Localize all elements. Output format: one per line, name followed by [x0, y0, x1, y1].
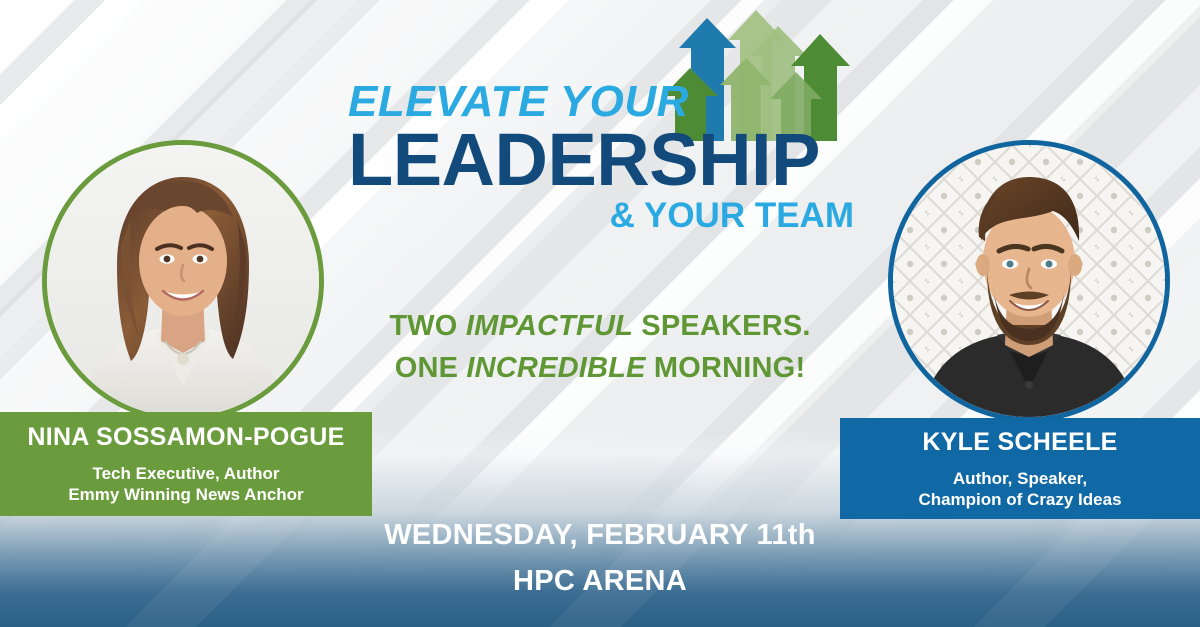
speaker-role-kyle: Author, Speaker, Champion of Crazy Ideas	[840, 468, 1200, 511]
event-venue: HPC ARENA	[0, 566, 1200, 598]
kyle-portrait-svg	[893, 145, 1165, 417]
tagline-2-suffix: MORNING!	[646, 352, 806, 384]
speaker-photo-nina-image	[47, 145, 319, 417]
speaker-name-kyle: KYLE SCHEELE	[840, 429, 1200, 457]
tagline-1-emphasis: IMPACTFUL	[466, 310, 633, 342]
tagline-2-prefix: ONE	[395, 352, 467, 384]
tagline-block: TWO IMPACTFUL SPEAKERS. ONE INCREDIBLE M…	[340, 305, 860, 389]
name-plate-kyle: KYLE SCHEELE Author, Speaker, Champion o…	[840, 418, 1200, 519]
event-info-block: WEDNESDAY, FEBRUARY 11th HPC ARENA	[0, 520, 1200, 598]
event-date: WEDNESDAY, FEBRUARY 11th	[0, 520, 1200, 552]
nina-portrait-svg	[47, 145, 319, 417]
speaker-role-nina-line2: Emmy Winning News Anchor	[0, 484, 372, 505]
speaker-role-nina-line1: Tech Executive, Author	[0, 463, 372, 484]
headline-line-and-your-team: & YOUR TEAM	[348, 198, 868, 233]
speaker-role-nina: Tech Executive, Author Emmy Winning News…	[0, 463, 372, 506]
headline-block: ELEVATE YOUR LEADERSHIP & YOUR TEAM	[348, 80, 868, 233]
tagline-2-emphasis: INCREDIBLE	[466, 352, 645, 384]
speaker-photo-kyle-image	[893, 145, 1165, 417]
speaker-role-kyle-line1: Author, Speaker,	[840, 468, 1200, 489]
speaker-role-kyle-line2: Champion of Crazy Ideas	[840, 489, 1200, 510]
speaker-photo-nina	[42, 140, 324, 422]
speaker-photo-kyle	[888, 140, 1170, 422]
speaker-name-nina: NINA SOSSAMON-POGUE	[0, 424, 372, 452]
tagline-1-suffix: SPEAKERS.	[633, 310, 811, 342]
name-plate-nina: NINA SOSSAMON-POGUE Tech Executive, Auth…	[0, 412, 372, 516]
headline-line-leadership: LEADERSHIP	[348, 126, 868, 194]
tagline-line-1: TWO IMPACTFUL SPEAKERS.	[340, 305, 860, 347]
tagline-1-prefix: TWO	[389, 310, 466, 342]
tagline-line-2: ONE INCREDIBLE MORNING!	[340, 347, 860, 389]
event-poster: ELEVATE YOUR LEADERSHIP & YOUR TEAM TWO …	[0, 0, 1200, 627]
